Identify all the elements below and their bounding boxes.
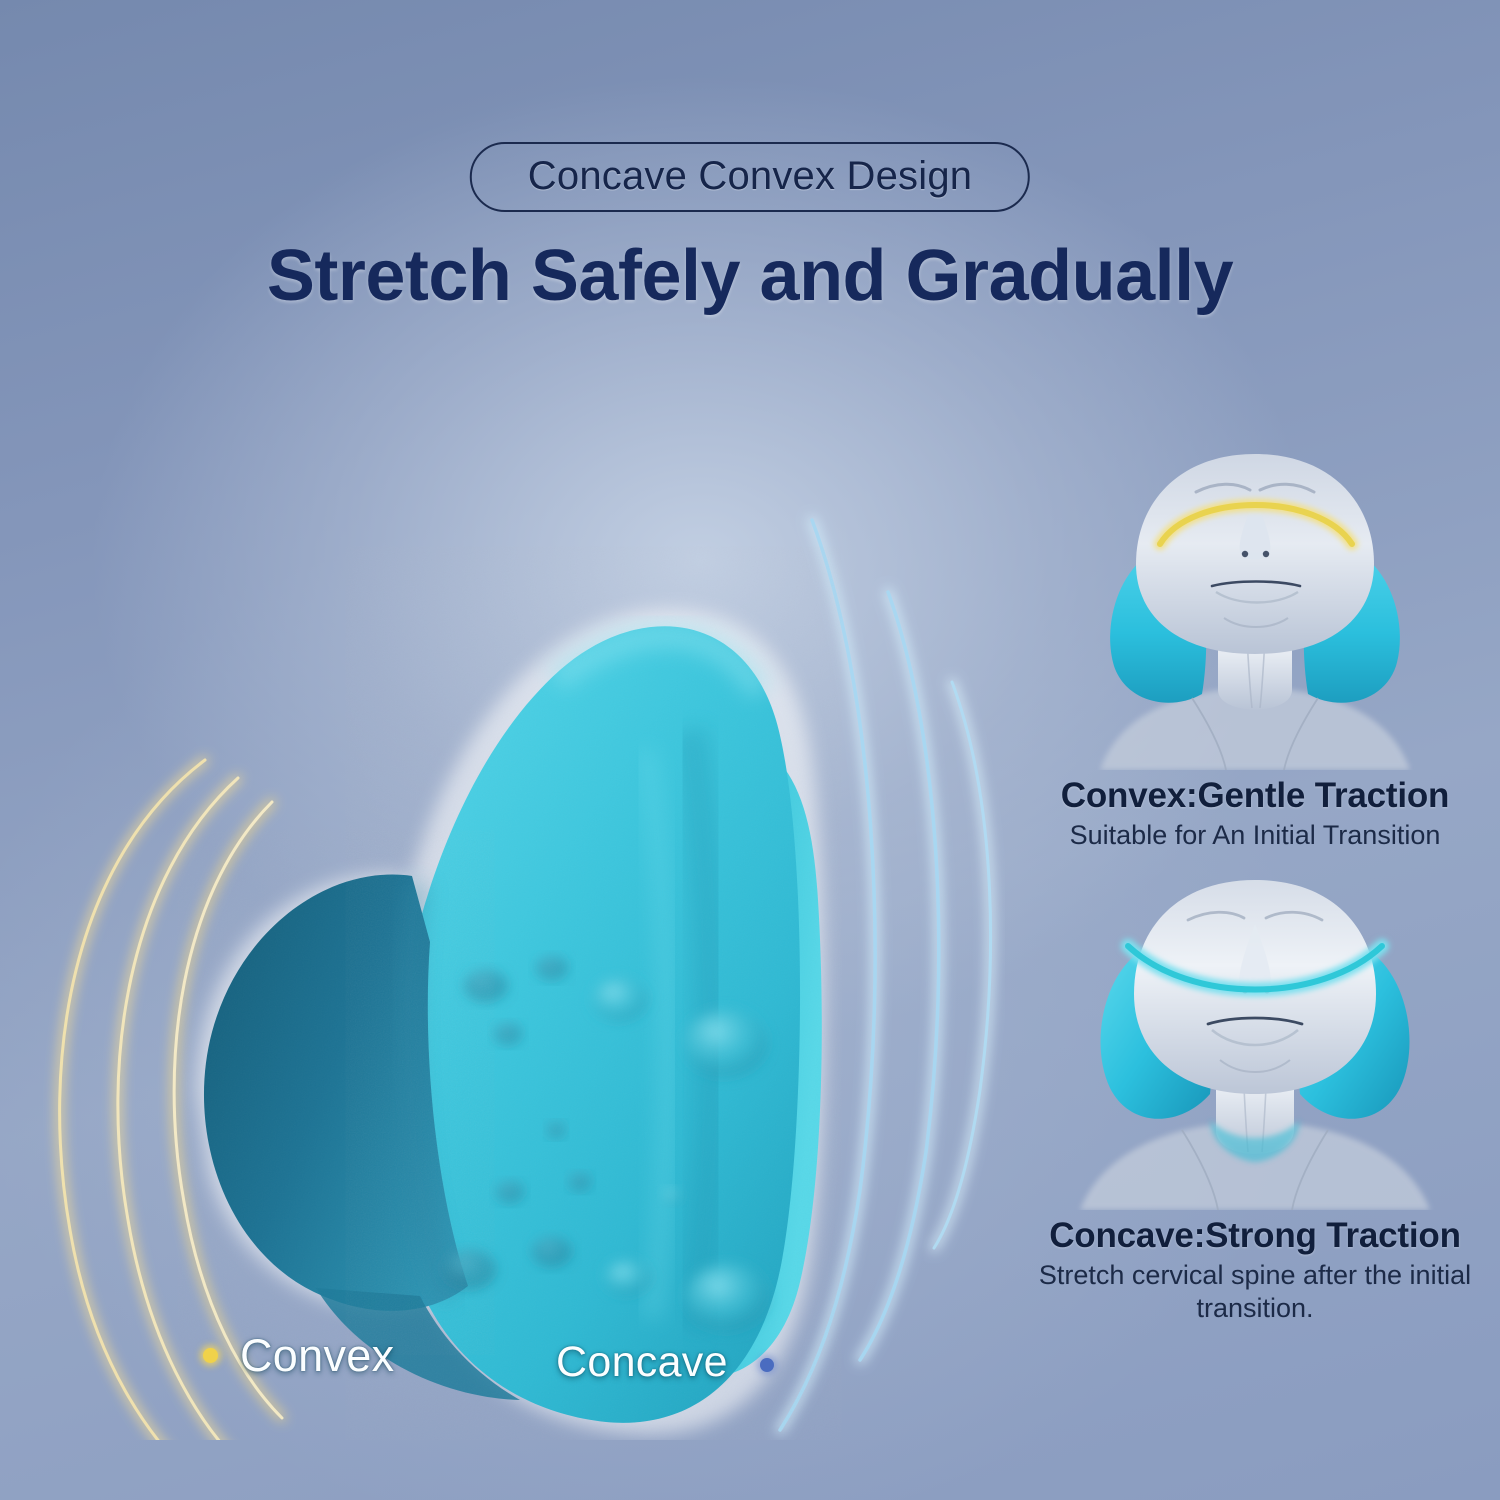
infographic-canvas: Concave Convex Design Stretch Safely and… xyxy=(0,0,1500,1500)
pillow-graphic xyxy=(0,430,1010,1440)
convex-dot-marker xyxy=(203,1348,218,1363)
panel-convex-gentle-traction: Convex:Gentle Traction Suitable for An I… xyxy=(1010,440,1500,852)
design-badge: Concave Convex Design xyxy=(470,142,1030,212)
panel-subtitle-convex: Suitable for An Initial Transition xyxy=(1010,819,1500,852)
figure-concave-face xyxy=(1010,880,1500,1210)
concave-dot-marker xyxy=(760,1358,774,1372)
panel-subtitle-concave: Stretch cervical spine after the initial… xyxy=(1010,1259,1500,1325)
foam-texture xyxy=(387,626,800,1423)
product-illustration: Convex Concave xyxy=(0,430,1010,1440)
figure-convex-face xyxy=(1010,440,1500,770)
page-title: Stretch Safely and Gradually xyxy=(267,240,1233,312)
concave-label: Concave xyxy=(556,1338,728,1387)
panel-concave-strong-traction: Concave:Strong Traction Stretch cervical… xyxy=(1010,880,1500,1325)
panel-title-concave: Concave:Strong Traction xyxy=(1010,1216,1500,1255)
convex-label: Convex xyxy=(240,1330,394,1382)
panel-title-convex: Convex:Gentle Traction xyxy=(1010,776,1500,815)
